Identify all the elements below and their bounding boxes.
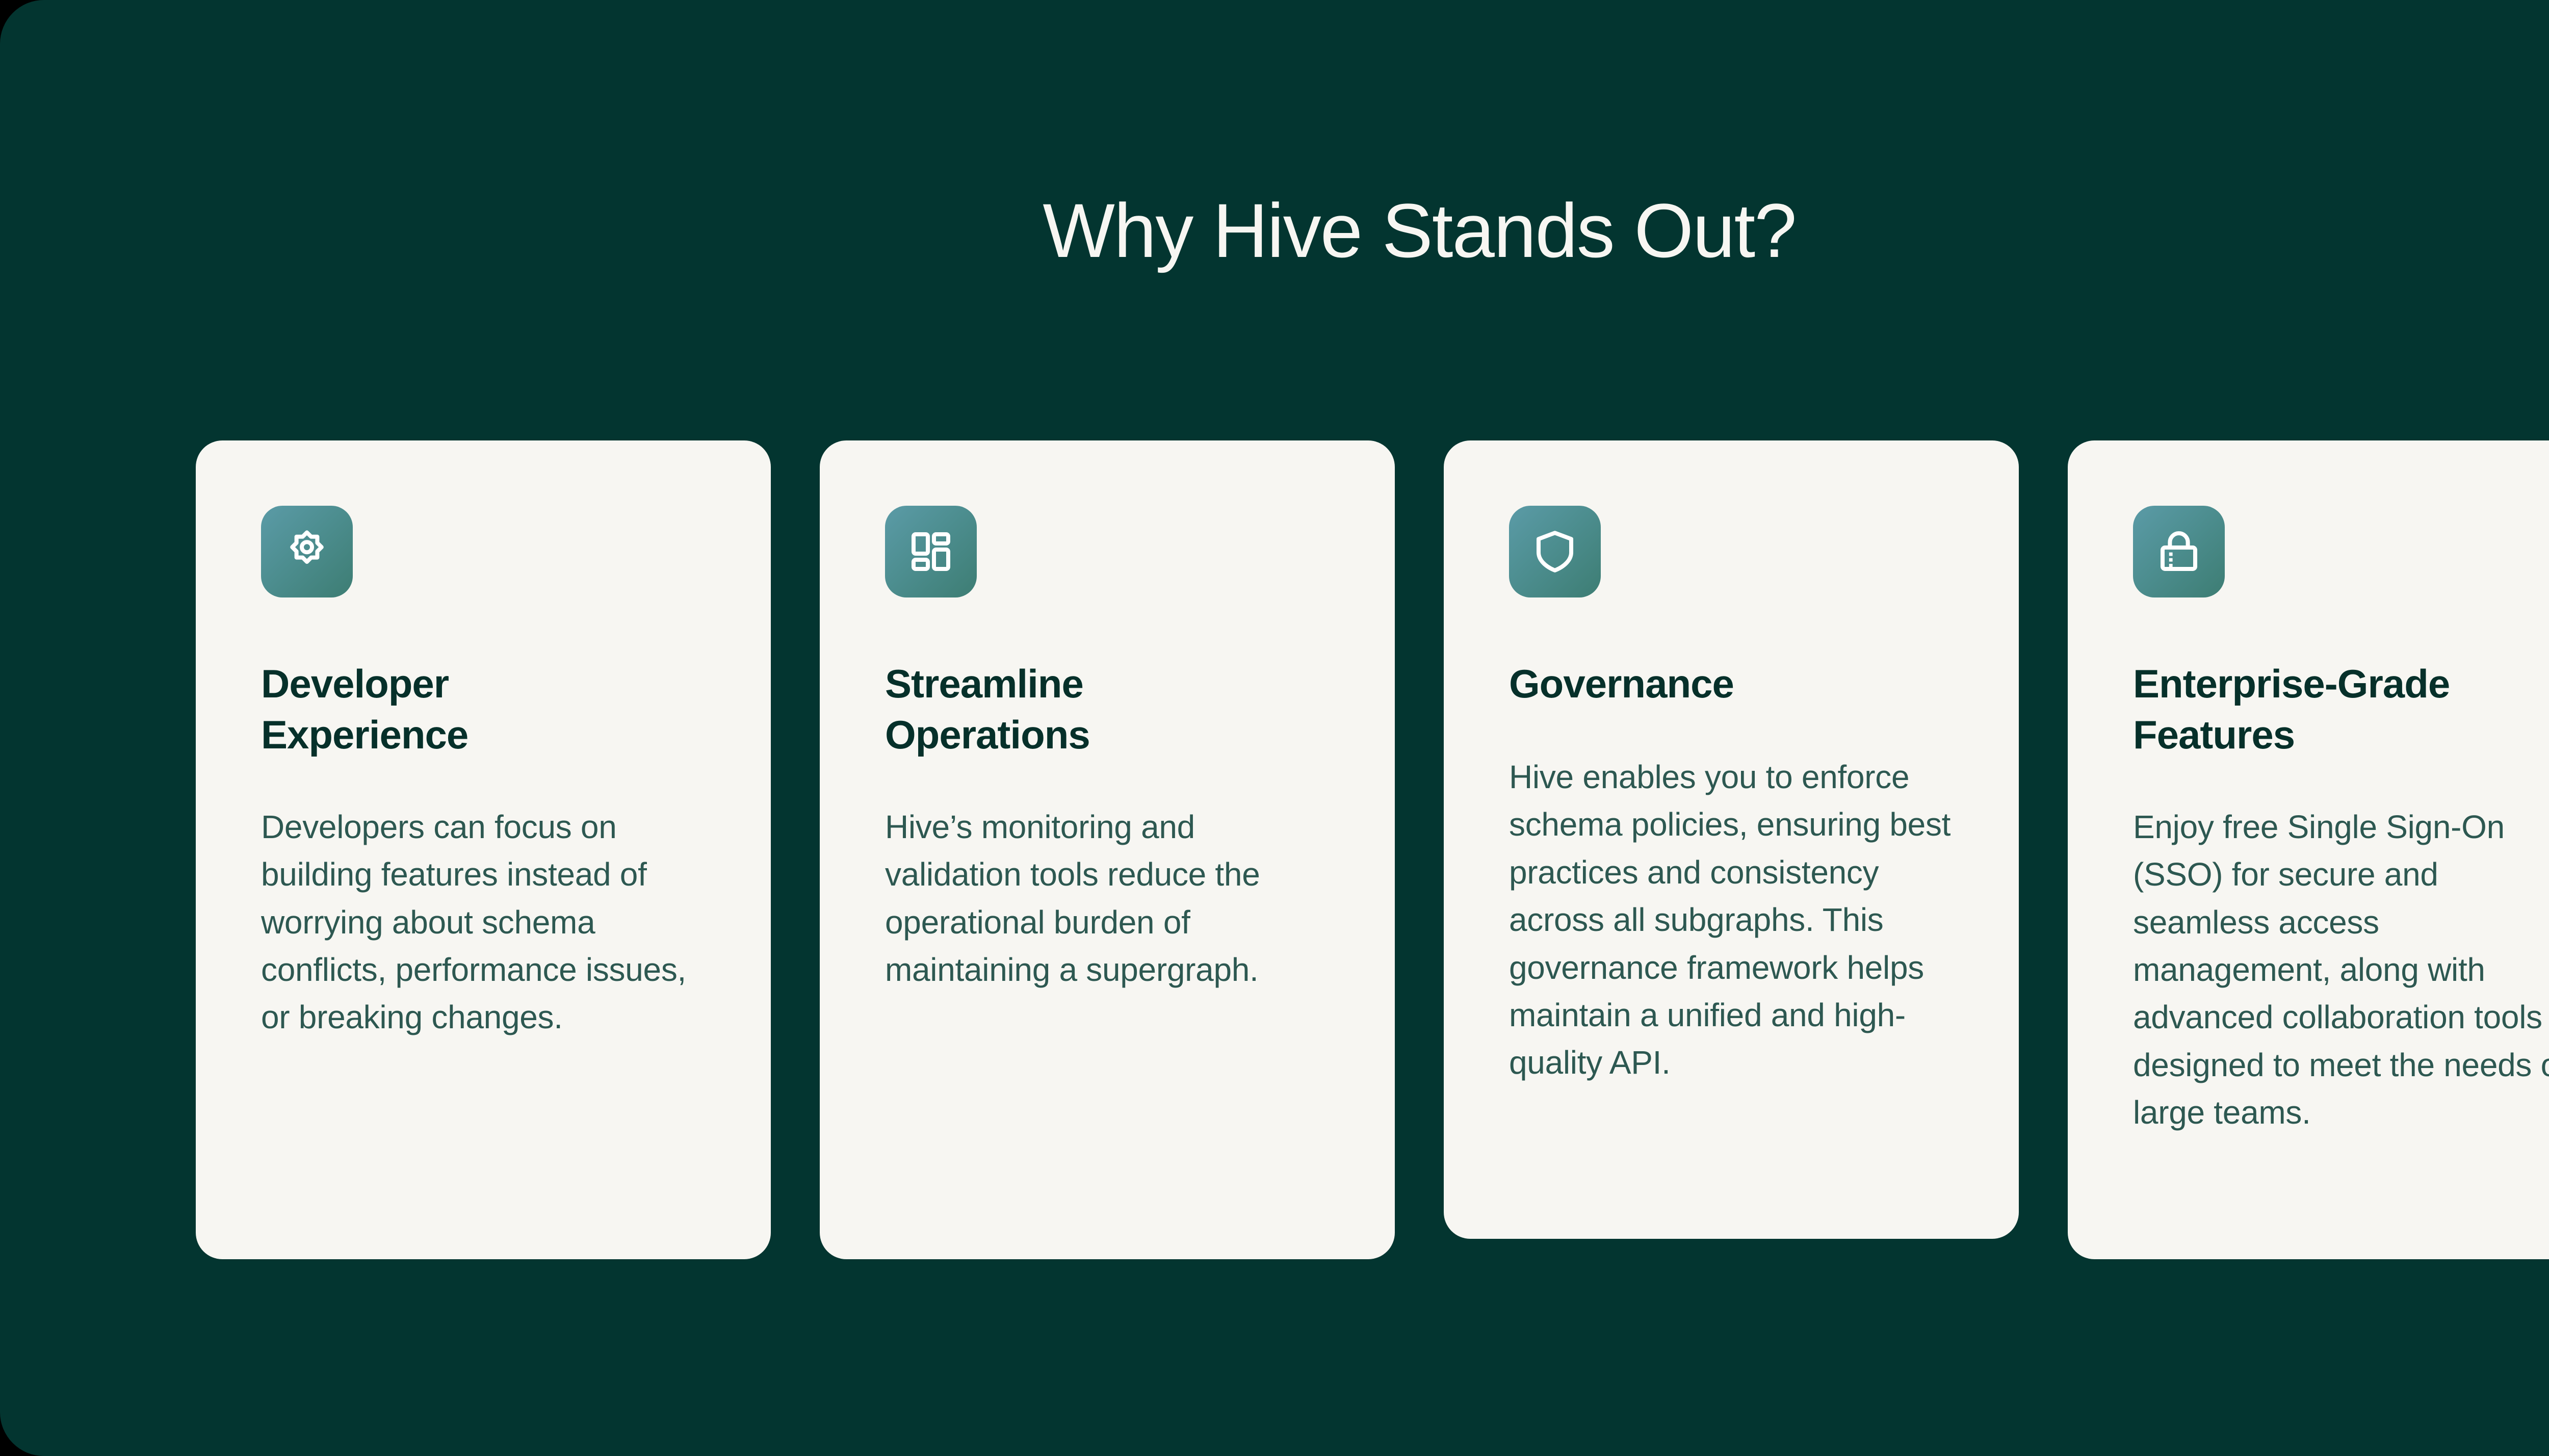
lock-icon bbox=[2133, 506, 2225, 597]
feature-card-streamline-operations[interactable]: Streamline Operations Hive’s monitoring … bbox=[820, 440, 1395, 1259]
card-body: Hive’s monitoring and validation tools r… bbox=[885, 803, 1330, 994]
card-heading: Governance bbox=[1509, 659, 1954, 710]
card-heading: Enterprise-Grade Features bbox=[2133, 659, 2549, 761]
feature-card-developer-experience[interactable]: Developer Experience Developers can focu… bbox=[196, 440, 771, 1259]
feature-card-governance[interactable]: Governance Hive enables you to enforce s… bbox=[1444, 440, 2019, 1239]
feature-cards-row: Developer Experience Developers can focu… bbox=[196, 440, 2549, 1259]
feature-section: Why Hive Stands Out? Developer Experienc… bbox=[0, 0, 2549, 1456]
gear-icon bbox=[261, 506, 353, 597]
card-heading: Streamline Operations bbox=[885, 659, 1330, 761]
card-heading: Developer Experience bbox=[261, 659, 706, 761]
dashboard-layout-icon bbox=[885, 506, 977, 597]
feature-card-enterprise-grade-features[interactable]: Enterprise-Grade Features Enjoy free Sin… bbox=[2068, 440, 2549, 1259]
card-body: Hive enables you to enforce schema polic… bbox=[1509, 753, 1954, 1087]
shield-icon bbox=[1509, 506, 1601, 597]
card-body: Developers can focus on building feature… bbox=[261, 803, 706, 1042]
card-body: Enjoy free Single Sign-On (SSO) for secu… bbox=[2133, 803, 2549, 1137]
page-title: Why Hive Stands Out? bbox=[0, 189, 2549, 273]
